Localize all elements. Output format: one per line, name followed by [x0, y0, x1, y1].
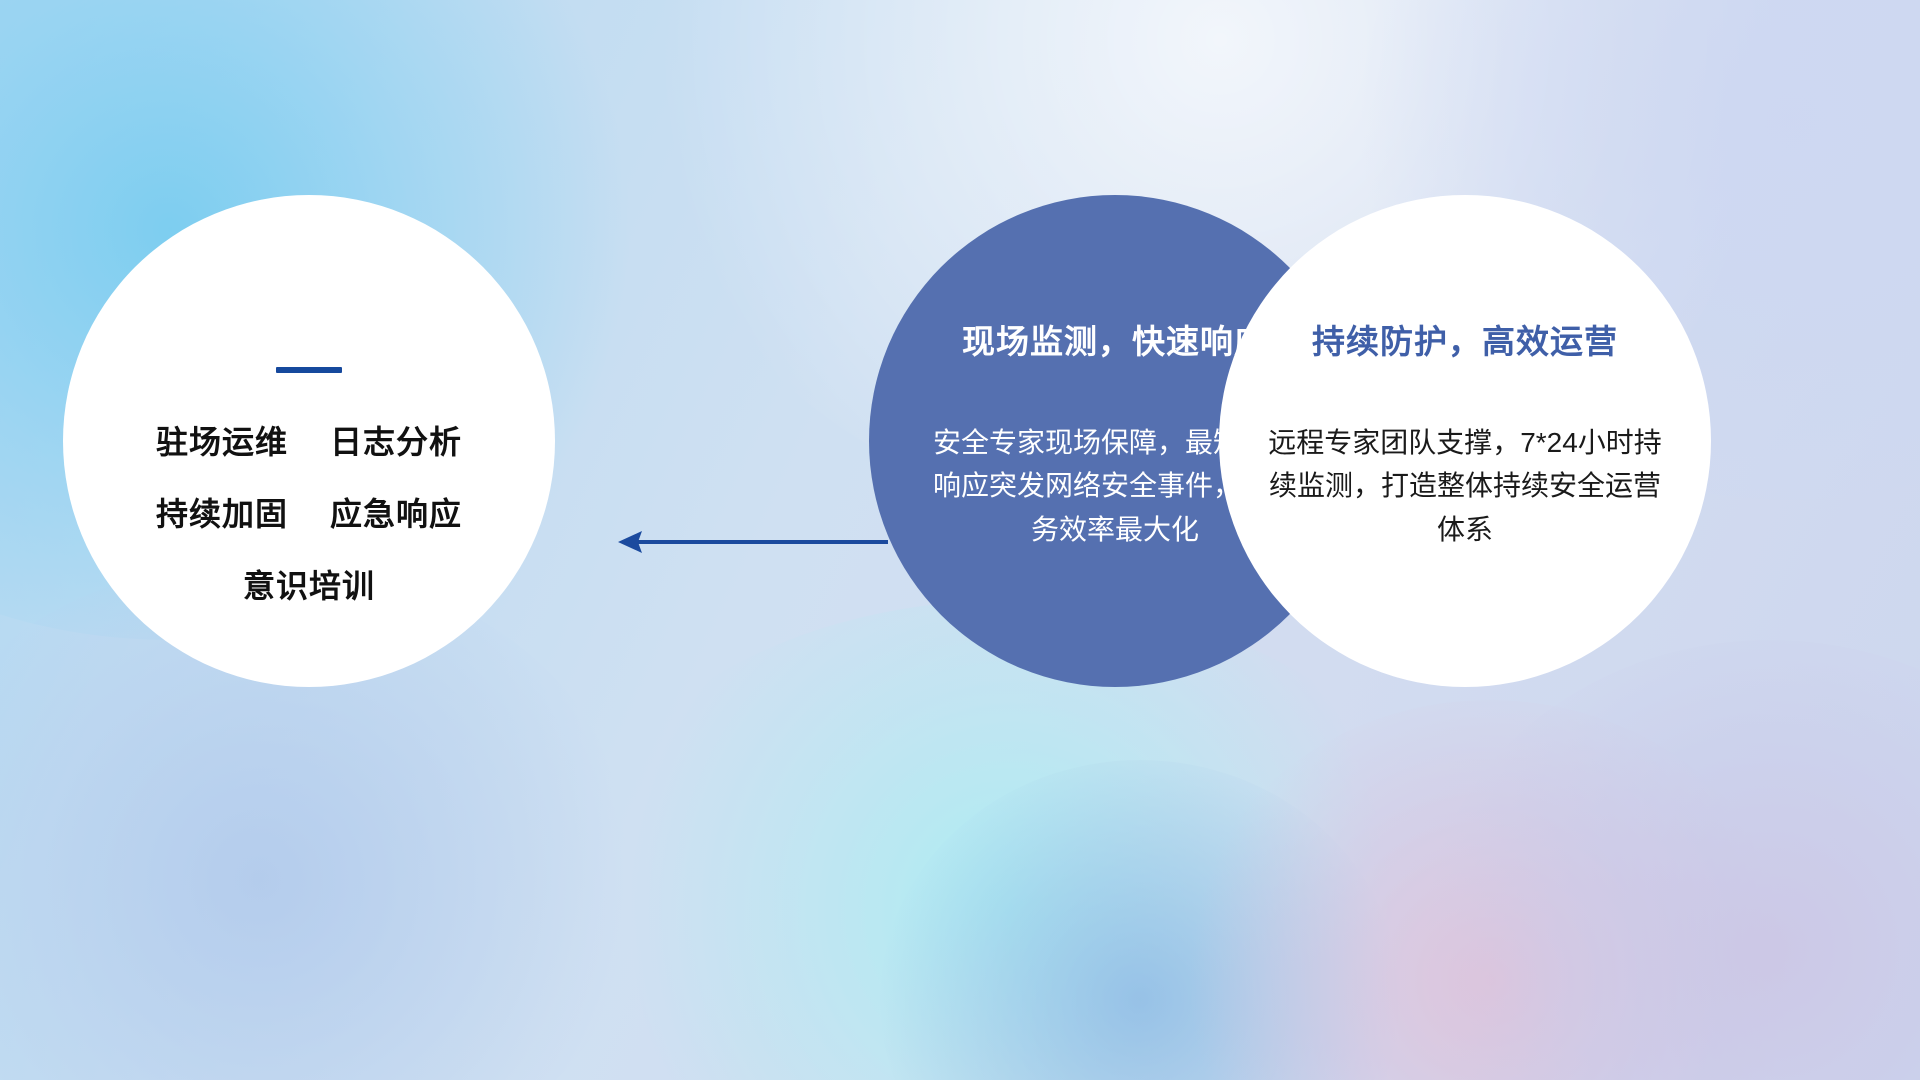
capability-tag-row: 持续加固 应急响应 — [89, 489, 529, 535]
capability-tag: 意识培训 — [243, 561, 375, 607]
continuous-protection-body: 远程专家团队支撑，7*24小时持续监测，打造整体持续安全运营体系 — [1263, 421, 1667, 551]
flow-arrow-left — [600, 512, 890, 572]
capability-tag-row: 意识培训 — [89, 561, 529, 607]
driven-ops-capability-circle[interactable]: 驻场运维 日志分析 持续加固 应急响应 意识培训 — [63, 195, 555, 687]
driven-ops-capability-content: 驻场运维 日志分析 持续加固 应急响应 意识培训 — [89, 367, 529, 633]
capability-tag-row: 驻场运维 日志分析 — [89, 417, 529, 463]
capability-tag: 驻场运维 — [156, 417, 288, 463]
capability-tag: 应急响应 — [330, 489, 462, 535]
slide-canvas: 现场监测，快速响应 安全专家现场保障，最短时间响应突发网络安全事件，将服务效率最… — [0, 0, 1920, 1080]
continuous-protection-content: 持续防护，高效运营 远程专家团队支撑，7*24小时持续监测，打造整体持续安全运营… — [1250, 315, 1680, 551]
capability-tag: 持续加固 — [156, 489, 288, 535]
accent-dash-divider — [276, 367, 342, 373]
continuous-protection-circle[interactable]: 持续防护，高效运营 远程专家团队支撑，7*24小时持续监测，打造整体持续安全运营… — [1219, 195, 1711, 687]
capability-tag: 日志分析 — [330, 417, 462, 463]
continuous-protection-title: 持续防护，高效运营 — [1250, 315, 1680, 363]
